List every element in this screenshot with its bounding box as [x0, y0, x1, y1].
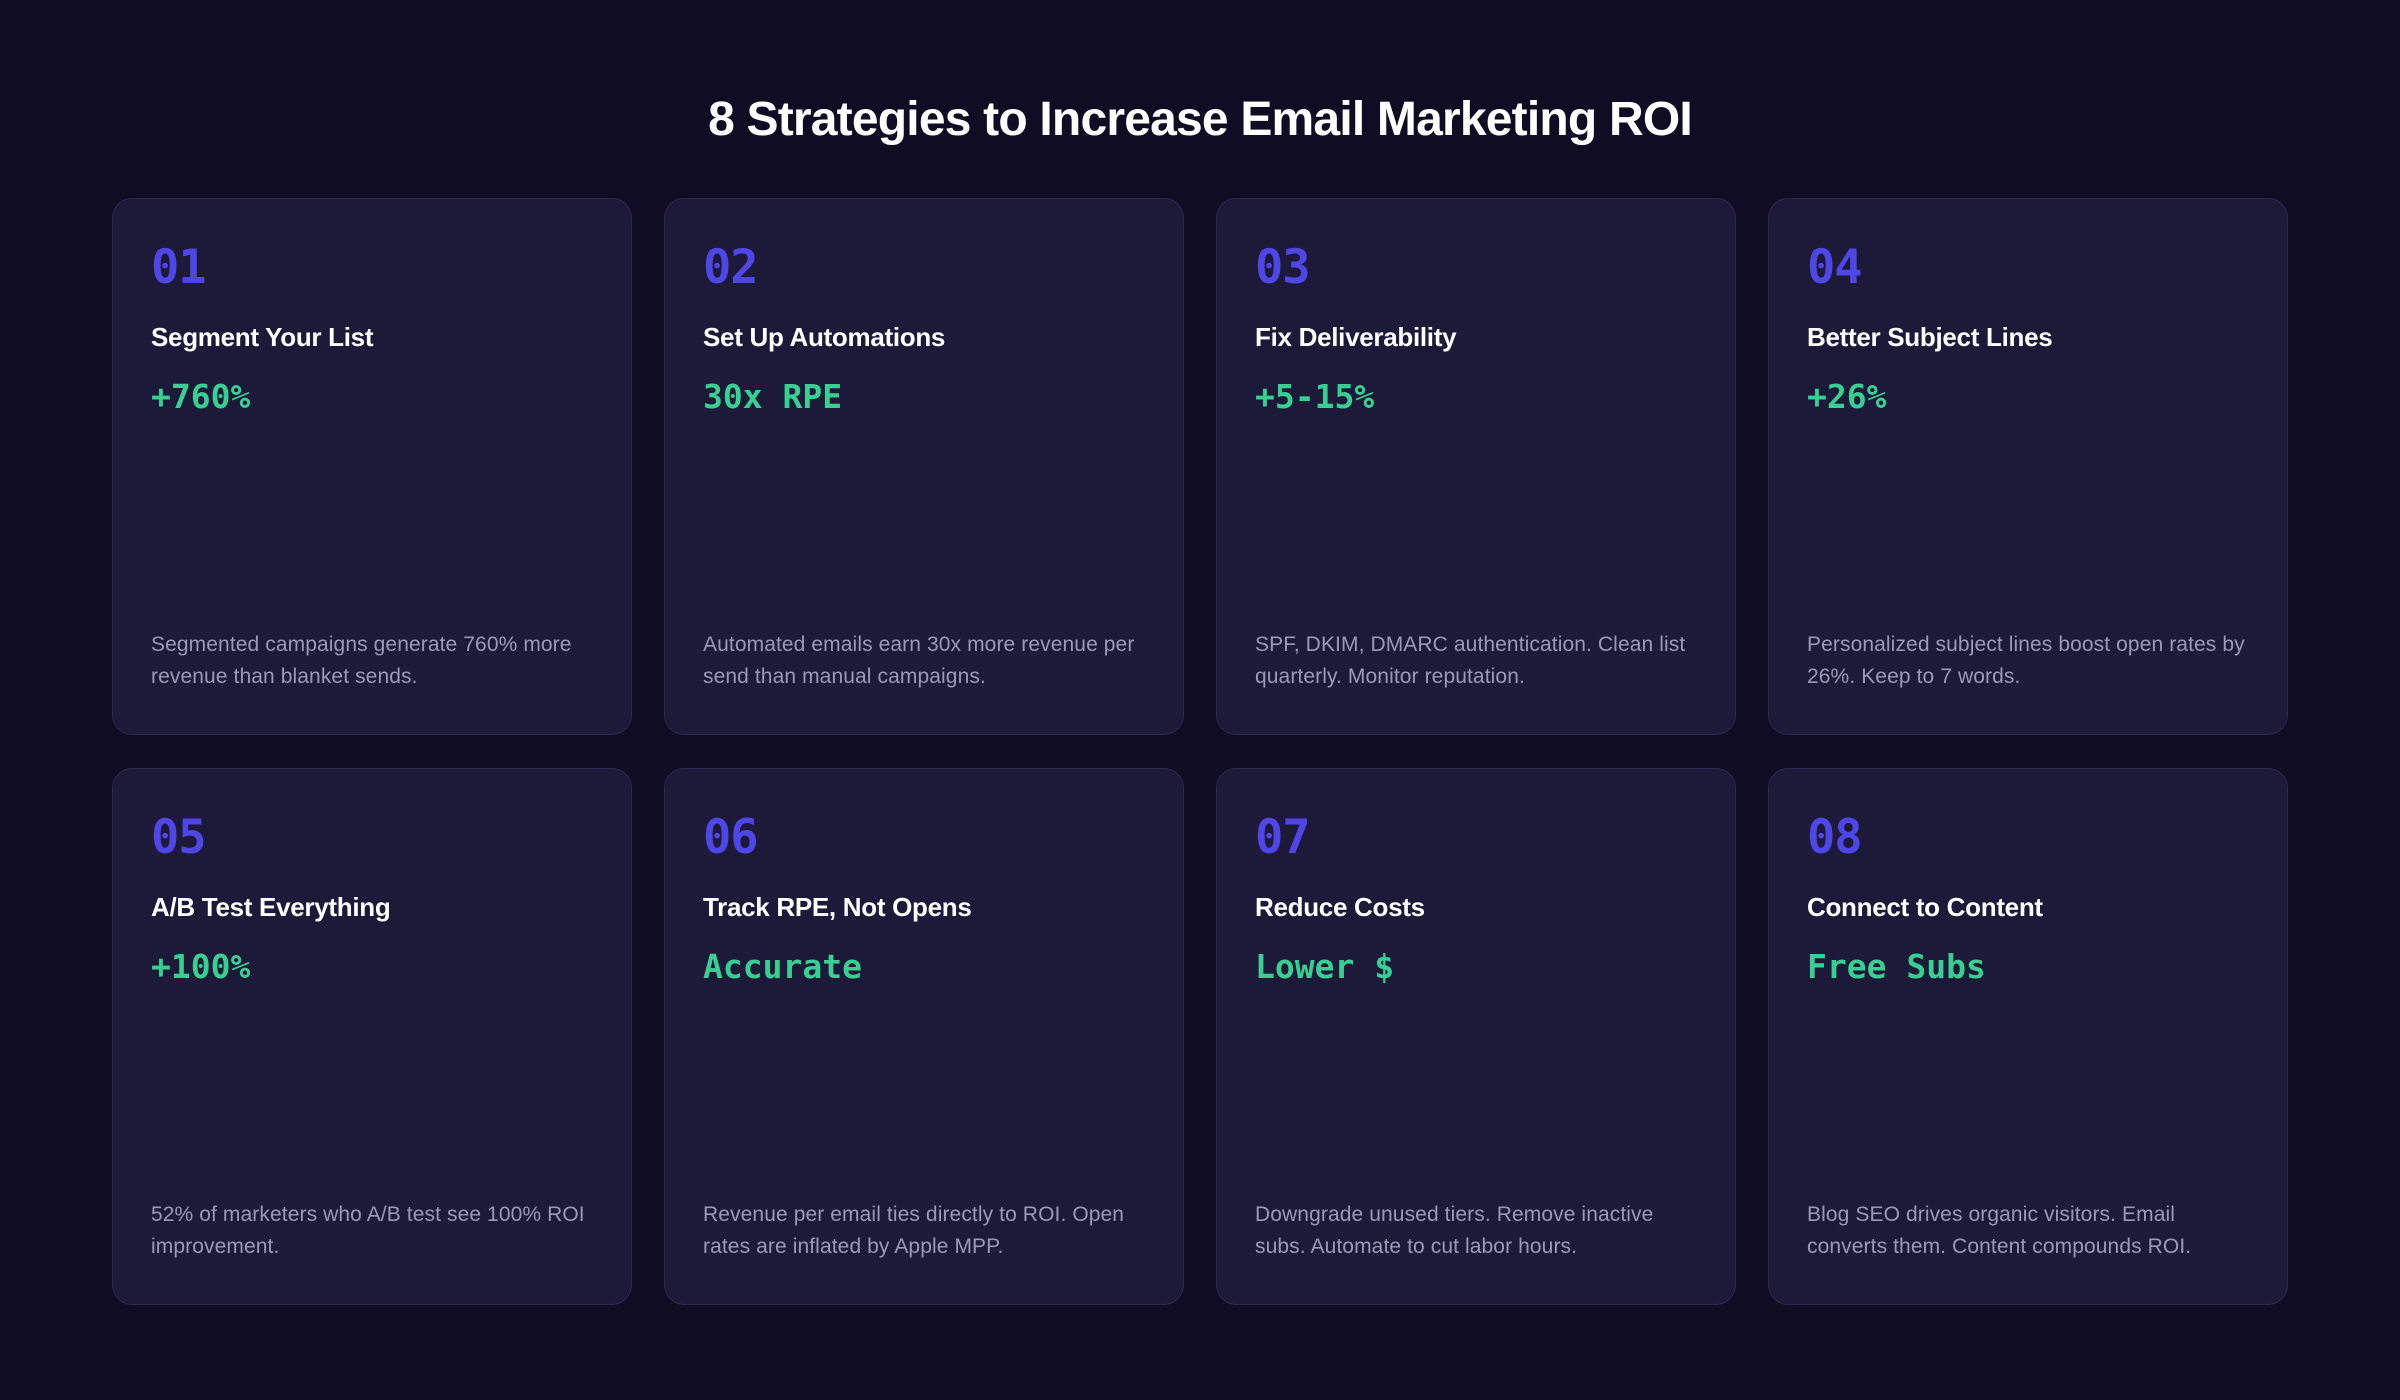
strategy-title: Segment Your List — [151, 322, 593, 353]
card-spacer — [703, 986, 1145, 1199]
card-spacer — [1255, 416, 1697, 629]
strategy-card: 07 Reduce Costs Lower $ Downgrade unused… — [1216, 768, 1736, 1305]
strategy-title: Connect to Content — [1807, 892, 2249, 923]
strategy-title: Fix Deliverability — [1255, 322, 1697, 353]
strategy-title: Track RPE, Not Opens — [703, 892, 1145, 923]
card-spacer — [703, 416, 1145, 629]
strategy-number: 03 — [1255, 244, 1697, 291]
strategy-number: 05 — [151, 814, 593, 861]
strategy-description: SPF, DKIM, DMARC authentication. Clean l… — [1255, 629, 1697, 694]
strategy-description: Segmented campaigns generate 760% more r… — [151, 629, 593, 694]
strategy-description: Blog SEO drives organic visitors. Email … — [1807, 1199, 2249, 1264]
strategy-card: 05 A/B Test Everything +100% 52% of mark… — [112, 768, 632, 1305]
strategy-card: 08 Connect to Content Free Subs Blog SEO… — [1768, 768, 2288, 1305]
page-title: 8 Strategies to Increase Email Marketing… — [0, 94, 2400, 147]
strategy-title: A/B Test Everything — [151, 892, 593, 923]
strategy-card-grid: 01 Segment Your List +760% Segmented cam… — [112, 198, 2288, 1305]
strategy-metric: Accurate — [703, 948, 1145, 986]
strategy-description: Revenue per email ties directly to ROI. … — [703, 1199, 1145, 1264]
strategy-description: Personalized subject lines boost open ra… — [1807, 629, 2249, 694]
strategy-card: 01 Segment Your List +760% Segmented cam… — [112, 198, 632, 735]
strategy-number: 04 — [1807, 244, 2249, 291]
strategy-metric: 30x RPE — [703, 378, 1145, 416]
strategy-number: 08 — [1807, 814, 2249, 861]
card-spacer — [1807, 986, 2249, 1199]
strategy-number: 02 — [703, 244, 1145, 291]
strategy-metric: +5-15% — [1255, 378, 1697, 416]
strategy-card: 04 Better Subject Lines +26% Personalize… — [1768, 198, 2288, 735]
strategy-metric: Free Subs — [1807, 948, 2249, 986]
strategy-number: 06 — [703, 814, 1145, 861]
strategy-card: 06 Track RPE, Not Opens Accurate Revenue… — [664, 768, 1184, 1305]
strategy-number: 07 — [1255, 814, 1697, 861]
card-spacer — [1807, 416, 2249, 629]
strategy-metric: Lower $ — [1255, 948, 1697, 986]
strategy-metric: +100% — [151, 948, 593, 986]
strategy-title: Better Subject Lines — [1807, 322, 2249, 353]
strategy-number: 01 — [151, 244, 593, 291]
strategy-description: Downgrade unused tiers. Remove inactive … — [1255, 1199, 1697, 1264]
card-spacer — [151, 416, 593, 629]
card-spacer — [151, 986, 593, 1199]
infographic-page: 8 Strategies to Increase Email Marketing… — [0, 0, 2400, 1400]
strategy-description: Automated emails earn 30x more revenue p… — [703, 629, 1145, 694]
strategy-title: Reduce Costs — [1255, 892, 1697, 923]
card-spacer — [1255, 986, 1697, 1199]
strategy-description: 52% of marketers who A/B test see 100% R… — [151, 1199, 593, 1264]
strategy-title: Set Up Automations — [703, 322, 1145, 353]
strategy-metric: +26% — [1807, 378, 2249, 416]
strategy-metric: +760% — [151, 378, 593, 416]
strategy-card: 03 Fix Deliverability +5-15% SPF, DKIM, … — [1216, 198, 1736, 735]
strategy-card: 02 Set Up Automations 30x RPE Automated … — [664, 198, 1184, 735]
